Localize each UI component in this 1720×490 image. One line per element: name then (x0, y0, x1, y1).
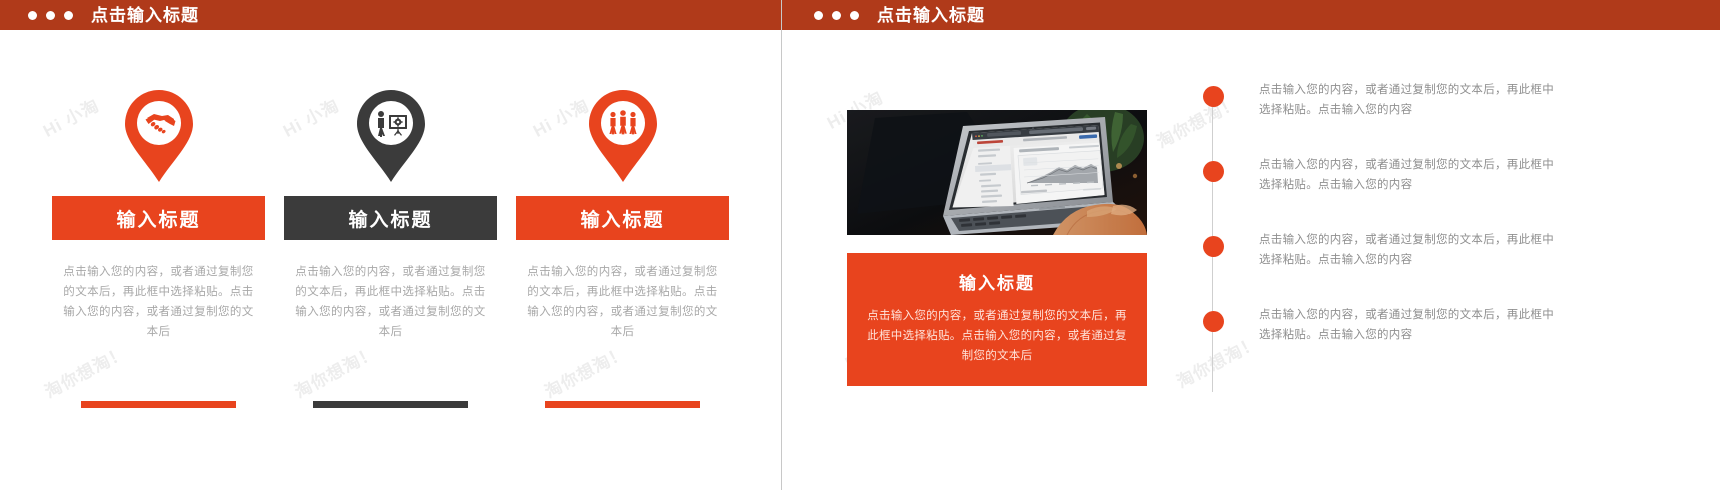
right-content: 输入标题 点击输入您的内容，或者通过复制您的文本后，再此框中选择粘贴。点击输入您… (782, 30, 1720, 490)
header-dot-icon (28, 11, 37, 20)
people-group-icon (585, 88, 661, 184)
header-dot-icon (814, 11, 823, 20)
column-body-text: 点击输入您的内容，或者通过复制您的文本后，再此框中选择粘贴。点击输入您的内容，或… (525, 262, 721, 343)
timeline-bullet-icon (1203, 86, 1224, 107)
feature-columns: 输入标题 点击输入您的内容，或者通过复制您的文本后，再此框中选择粘贴。点击输入您… (0, 30, 781, 490)
column-accent-bar (313, 401, 468, 408)
column-title-box: 输入标题 (284, 196, 497, 240)
presentation-board-icon (353, 88, 429, 184)
timeline-bullet-icon (1203, 236, 1224, 257)
handshake-pin (121, 88, 197, 184)
timeline-item-text: 点击输入您的内容，或者通过复制您的文本后，再此框中选择粘贴。点击输入您的内容 (1259, 70, 1559, 120)
column-title: 输入标题 (348, 205, 432, 232)
column-title: 输入标题 (116, 205, 200, 232)
timeline-bullet-icon (1203, 311, 1224, 332)
slide-left-header: 点击输入标题 (0, 0, 781, 30)
timeline-item: 点击输入您的内容，或者通过复制您的文本后，再此框中选择粘贴。点击输入您的内容 (1187, 145, 1720, 220)
handshake-icon (121, 88, 197, 184)
slide-right: 点击输入标题 Hi 小淘 淘你想淘！ Hi 小淘 淘你想淘！ (782, 0, 1720, 490)
timeline-item: 点击输入您的内容，或者通过复制您的文本后，再此框中选择粘贴。点击输入您的内容 (1187, 220, 1720, 295)
header-dot-icon (64, 11, 73, 20)
header-dot-icon (46, 11, 55, 20)
header-dots (28, 11, 73, 20)
column-accent-bar (545, 401, 700, 408)
slide-left-title: 点击输入标题 (91, 7, 199, 24)
column-body-text: 点击输入您的内容，或者通过复制您的文本后，再此框中选择粘贴。点击输入您的内容，或… (293, 262, 489, 343)
people-group-pin (585, 88, 661, 184)
slide-left: 点击输入标题 Hi 小淘 Hi 小淘 Hi 小淘 淘你想淘！ 淘你想淘！ 淘你想… (0, 0, 782, 490)
feature-column: 输入标题 点击输入您的内容，或者通过复制您的文本后，再此框中选择粘贴。点击输入您… (284, 30, 497, 490)
slide-right-header: 点击输入标题 (782, 0, 1720, 30)
timeline-item-text: 点击输入您的内容，或者通过复制您的文本后，再此框中选择粘贴。点击输入您的内容 (1259, 295, 1559, 345)
media-column: 输入标题 点击输入您的内容，或者通过复制您的文本后，再此框中选择粘贴。点击输入您… (782, 30, 1157, 490)
timeline-item: 点击输入您的内容，或者通过复制您的文本后，再此框中选择粘贴。点击输入您的内容 (1187, 295, 1720, 370)
slide-right-title: 点击输入标题 (877, 7, 985, 24)
timeline-item: 点击输入您的内容，或者通过复制您的文本后，再此框中选择粘贴。点击输入您的内容 (1187, 70, 1720, 145)
highlight-card: 输入标题 点击输入您的内容，或者通过复制您的文本后，再此框中选择粘贴。点击输入您… (847, 253, 1147, 386)
card-title: 输入标题 (865, 269, 1129, 294)
header-dot-icon (850, 11, 859, 20)
header-dot-icon (832, 11, 841, 20)
timeline-list: 点击输入您的内容，或者通过复制您的文本后，再此框中选择粘贴。点击输入您的内容 点… (1157, 30, 1720, 490)
column-accent-bar (81, 401, 236, 408)
header-dots (814, 11, 859, 20)
column-title-box: 输入标题 (516, 196, 729, 240)
card-body-text: 点击输入您的内容，或者通过复制您的文本后，再此框中选择粘贴。点击输入您的内容，或… (865, 306, 1129, 366)
laptop-analytics-photo (847, 110, 1147, 235)
timeline-bullet-icon (1203, 161, 1224, 182)
slide-deck: 点击输入标题 Hi 小淘 Hi 小淘 Hi 小淘 淘你想淘！ 淘你想淘！ 淘你想… (0, 0, 1720, 490)
column-title: 输入标题 (580, 205, 664, 232)
laptop-photo-illustration (847, 110, 1147, 235)
feature-column: 输入标题 点击输入您的内容，或者通过复制您的文本后，再此框中选择粘贴。点击输入您… (516, 30, 729, 490)
presentation-pin (353, 88, 429, 184)
timeline-item-text: 点击输入您的内容，或者通过复制您的文本后，再此框中选择粘贴。点击输入您的内容 (1259, 145, 1559, 195)
timeline-item-text: 点击输入您的内容，或者通过复制您的文本后，再此框中选择粘贴。点击输入您的内容 (1259, 220, 1559, 270)
column-title-box: 输入标题 (52, 196, 265, 240)
feature-column: 输入标题 点击输入您的内容，或者通过复制您的文本后，再此框中选择粘贴。点击输入您… (52, 30, 265, 490)
column-body-text: 点击输入您的内容，或者通过复制您的文本后，再此框中选择粘贴。点击输入您的内容，或… (61, 262, 257, 343)
